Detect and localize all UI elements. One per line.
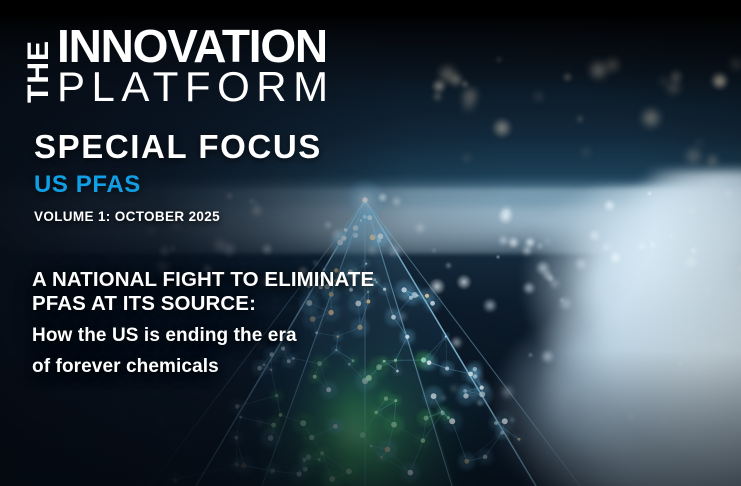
volume-issue-line: VOLUME 1: OCTOBER 2025 xyxy=(34,210,322,224)
special-focus-block: SPECIAL FOCUS US PFAS VOLUME 1: OCTOBER … xyxy=(34,130,322,224)
headline-line-2: PFAS AT ITS SOURCE: xyxy=(32,292,452,316)
magazine-cover: THE INNOVATION PLATFORM SPECIAL FOCUS US… xyxy=(0,0,741,486)
masthead-logo[interactable]: THE INNOVATION PLATFORM xyxy=(24,24,335,118)
cover-headline-block[interactable]: A NATIONAL FIGHT TO ELIMINATE PFAS AT IT… xyxy=(32,268,452,379)
headline-subline-1: How the US is ending the era xyxy=(32,324,452,348)
masthead-innovation: INNOVATION xyxy=(57,24,335,68)
special-focus-label: SPECIAL FOCUS xyxy=(34,130,322,163)
headline-line-1: A NATIONAL FIGHT TO ELIMINATE xyxy=(32,268,452,292)
special-focus-topic: US PFAS xyxy=(34,173,322,197)
masthead-the: THE xyxy=(24,26,54,118)
headline-subline-2: of forever chemicals xyxy=(32,355,452,379)
masthead-platform: PLATFORM xyxy=(57,66,335,109)
masthead-wordmark: INNOVATION PLATFORM xyxy=(57,24,335,109)
